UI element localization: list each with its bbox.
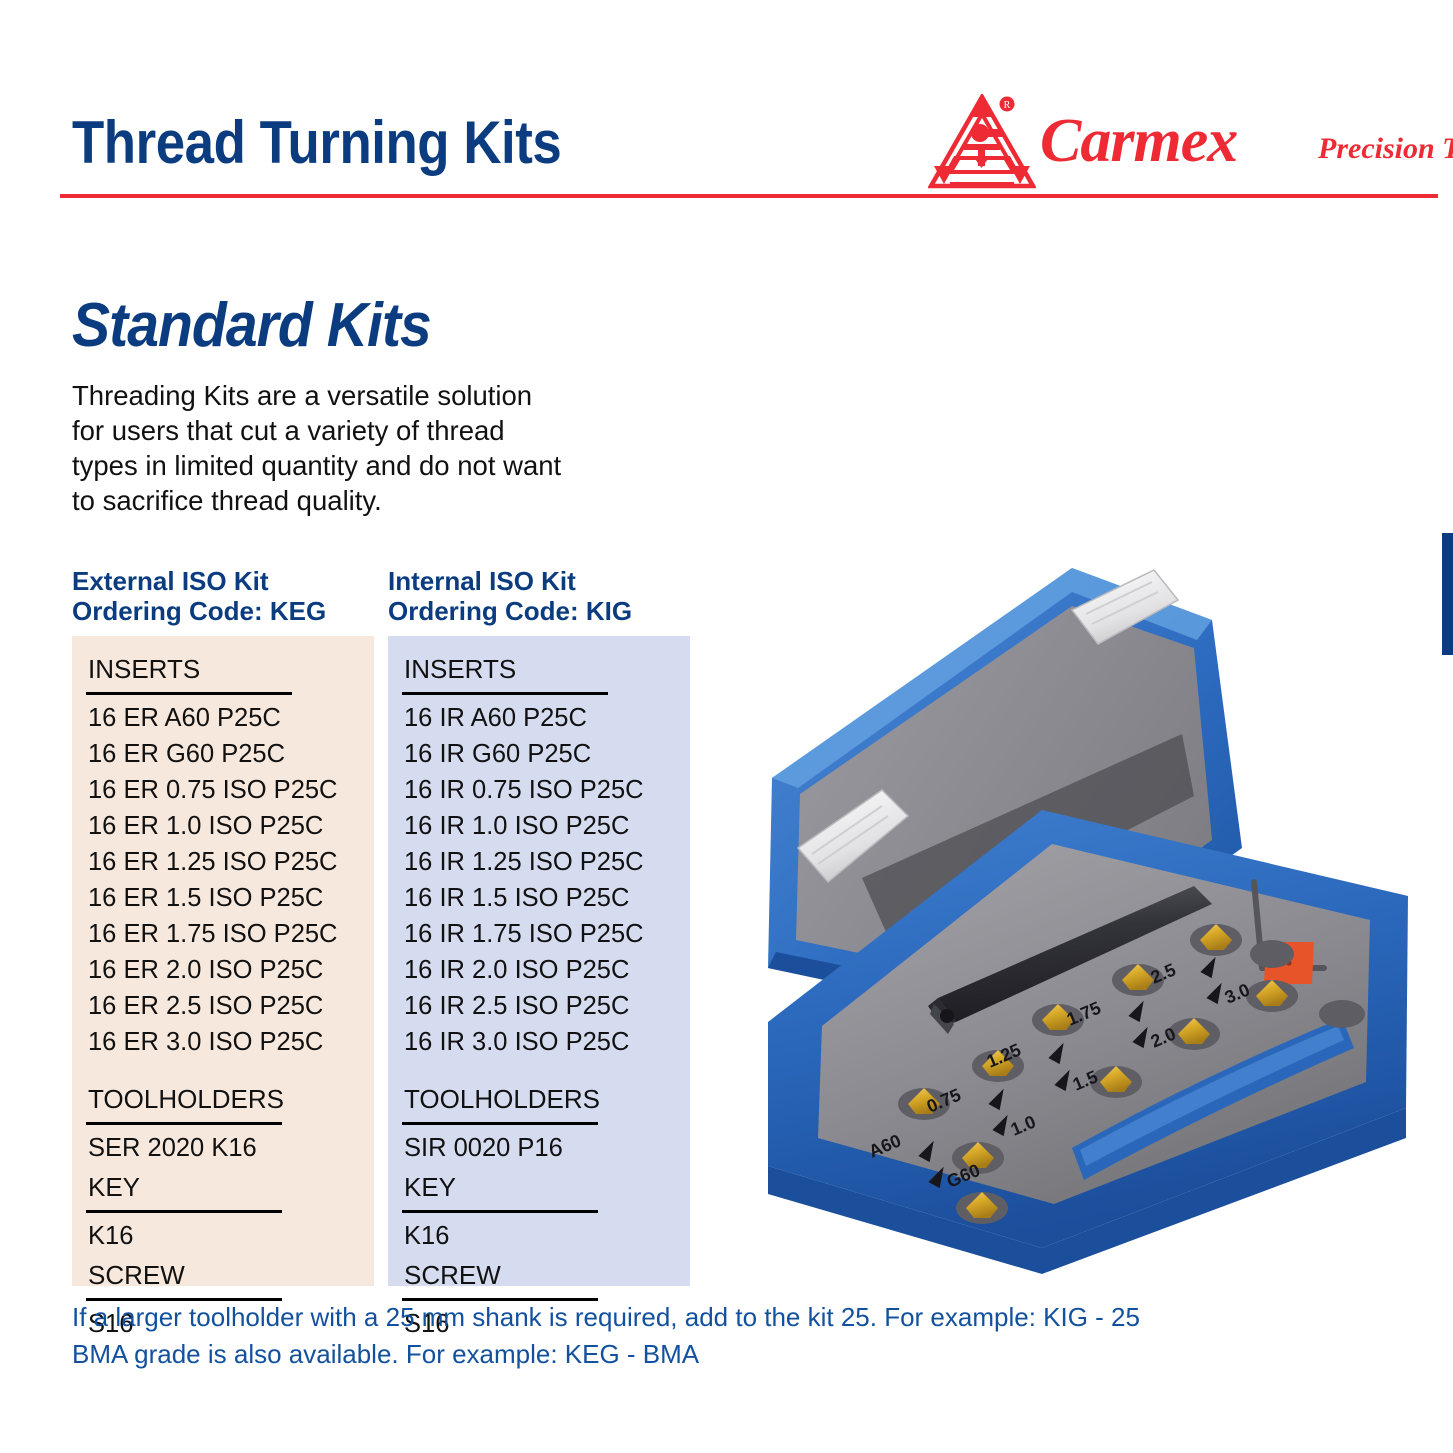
- kit-item-row: 16 IR 1.25 ISO P25C: [404, 848, 644, 877]
- kit-item-row: 16 ER G60 P25C: [88, 740, 285, 769]
- foam-pocket-empty: [1250, 940, 1294, 968]
- kit-external-heading-line1: External ISO Kit: [72, 566, 326, 596]
- kit-item-row: 16 ER 1.75 ISO P25C: [88, 920, 337, 949]
- carmex-triangle-logo-icon: R: [928, 94, 1036, 190]
- group-title-inserts: INSERTS: [88, 654, 200, 685]
- kit-external-panel-inner: INSERTS16 ER A60 P25C16 ER G60 P25C16 ER…: [72, 636, 374, 1286]
- kit-external-heading-line2: Ordering Code: KEG: [72, 596, 326, 626]
- kit-item-row: 16 IR A60 P25C: [404, 704, 587, 733]
- group-rule: [86, 1122, 282, 1125]
- group-title-toolholders: TOOLHOLDERS: [404, 1084, 600, 1115]
- kit-item-row: 16 IR 1.5 ISO P25C: [404, 884, 629, 913]
- kit-external-panel: INSERTS16 ER A60 P25C16 ER G60 P25C16 ER…: [72, 636, 374, 1286]
- footnote-line: If a larger toolholder with a 25 mm shan…: [72, 1299, 1272, 1336]
- logo-tagline: Precision Tools Ltd.: [1318, 132, 1453, 166]
- kit-internal-panel-inner: INSERTS16 IR A60 P25C16 IR G60 P25C16 IR…: [388, 636, 690, 1286]
- section-intro: Threading Kits are a versatile solution …: [72, 378, 632, 518]
- kit-item-row: 16 IR 2.5 ISO P25C: [404, 992, 629, 1021]
- kit-item-row: 16 IR 1.75 ISO P25C: [404, 920, 644, 949]
- group-title-inserts: INSERTS: [404, 654, 516, 685]
- kit-external-heading: External ISO Kit Ordering Code: KEG: [72, 566, 326, 626]
- product-photo-thread-turning-kit-case: A60 G60 0.75 1.0 1.25 1.5 1.75 2.0 2.5 3…: [742, 548, 1448, 1274]
- group-title-screw: SCREW: [404, 1260, 501, 1291]
- kit-internal-heading-line2: Ordering Code: KIG: [388, 596, 632, 626]
- kit-item-row: 16 ER 1.0 ISO P25C: [88, 812, 323, 841]
- kit-item-row: 16 ER 2.0 ISO P25C: [88, 956, 323, 985]
- group-rule: [402, 1122, 598, 1125]
- intro-line: types in limited quantity and do not wan…: [72, 448, 632, 483]
- section-title: Standard Kits: [72, 290, 431, 361]
- kit-item-row: SER 2020 K16: [88, 1134, 257, 1163]
- footnote-line: BMA grade is also available. For example…: [72, 1336, 1272, 1373]
- kit-internal-heading: Internal ISO Kit Ordering Code: KIG: [388, 566, 632, 626]
- group-rule: [86, 692, 292, 695]
- kit-item-row: 16 IR G60 P25C: [404, 740, 591, 769]
- foam-pocket-empty: [1319, 1000, 1365, 1028]
- group-title-key: KEY: [88, 1172, 140, 1203]
- kit-item-row: 16 ER 1.5 ISO P25C: [88, 884, 323, 913]
- kit-item-row: 16 ER 2.5 ISO P25C: [88, 992, 323, 1021]
- kit-item-row: 16 ER 1.25 ISO P25C: [88, 848, 337, 877]
- group-title-key: KEY: [404, 1172, 456, 1203]
- kit-item-row: 16 IR 0.75 ISO P25C: [404, 776, 644, 805]
- svg-text:R: R: [1004, 100, 1011, 111]
- kit-item-row: K16: [88, 1222, 133, 1251]
- group-title-screw: SCREW: [88, 1260, 185, 1291]
- group-rule: [86, 1210, 282, 1213]
- carmex-logo: R Carmex Precision Tools Ltd.: [928, 92, 1428, 188]
- kit-item-row: SIR 0020 P16: [404, 1134, 563, 1163]
- kit-item-row: 16 ER A60 P25C: [88, 704, 281, 733]
- group-rule: [402, 1210, 598, 1213]
- kit-item-row: 16 IR 2.0 ISO P25C: [404, 956, 629, 985]
- header-rule: [60, 194, 1438, 198]
- kit-item-row: 16 IR 1.0 ISO P25C: [404, 812, 629, 841]
- kit-item-row: 16 ER 3.0 ISO P25C: [88, 1028, 323, 1057]
- logo-wordmark: Carmex: [1040, 106, 1237, 177]
- intro-line: Threading Kits are a versatile solution: [72, 378, 632, 413]
- kit-item-row: 16 IR 3.0 ISO P25C: [404, 1028, 629, 1057]
- group-title-toolholders: TOOLHOLDERS: [88, 1084, 284, 1115]
- kit-internal-heading-line1: Internal ISO Kit: [388, 566, 632, 596]
- kit-internal-panel: INSERTS16 IR A60 P25C16 IR G60 P25C16 IR…: [388, 636, 690, 1286]
- kit-item-row: 16 ER 0.75 ISO P25C: [88, 776, 337, 805]
- group-rule: [402, 692, 608, 695]
- page-title: Thread Turning Kits: [72, 108, 561, 177]
- kit-item-row: K16: [404, 1222, 449, 1251]
- intro-line: for users that cut a variety of thread: [72, 413, 632, 448]
- intro-line: to sacrifice thread quality.: [72, 483, 632, 518]
- footnote: If a larger toolholder with a 25 mm shan…: [72, 1299, 1272, 1373]
